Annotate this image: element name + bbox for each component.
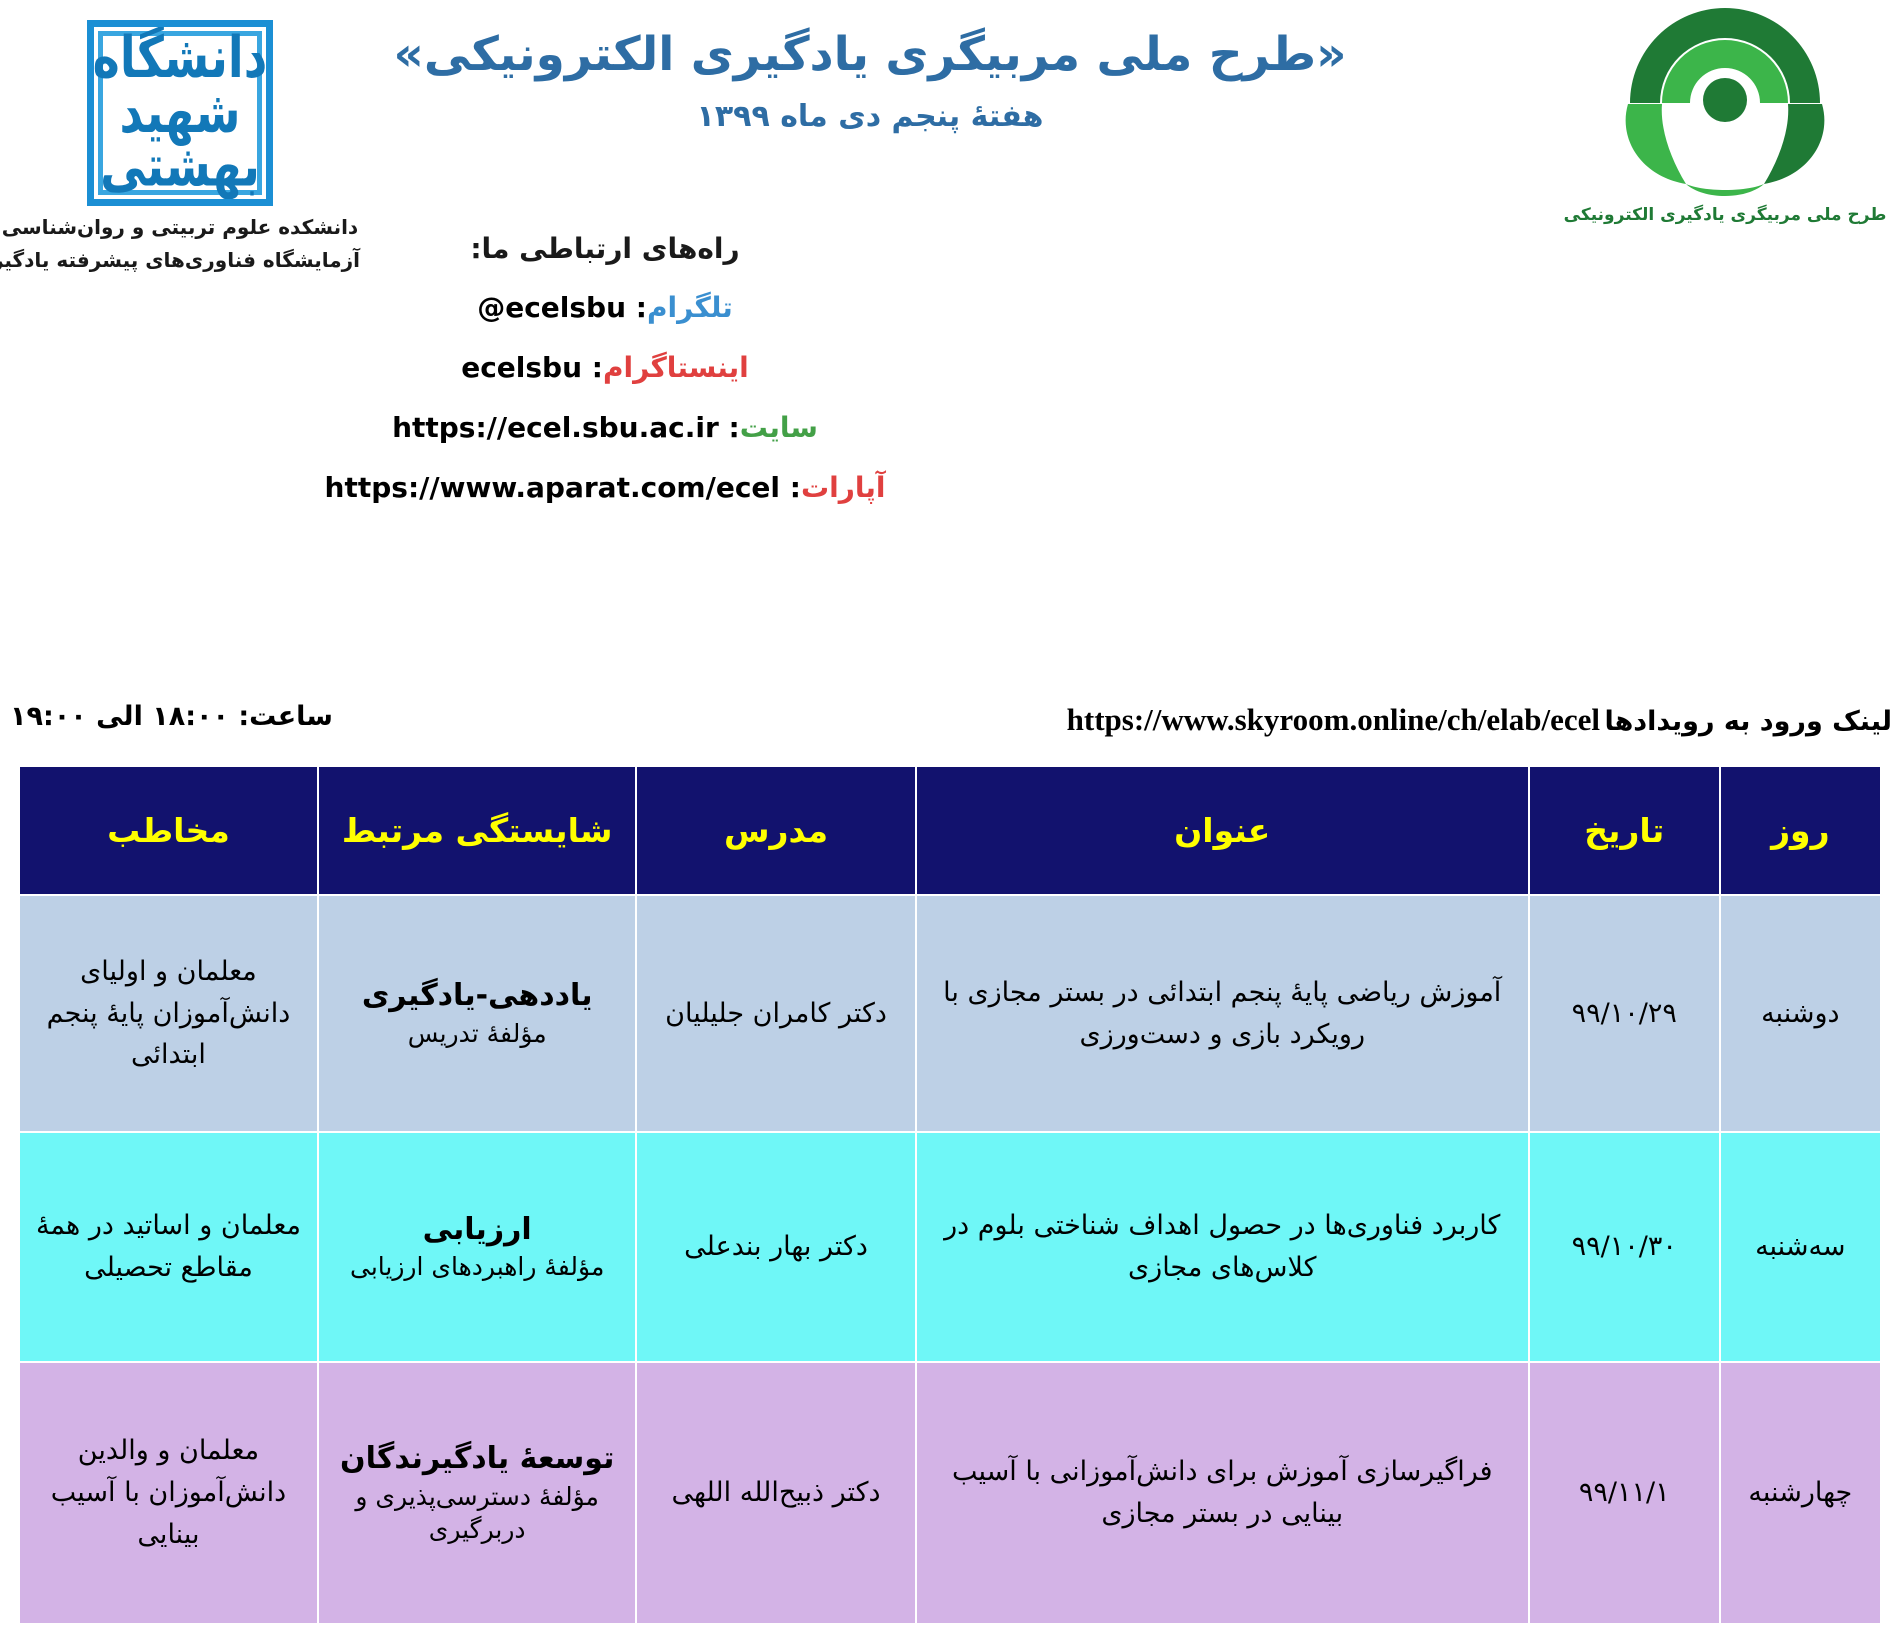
contact-row-telegram: تلگرام: @ecelsbu: [0, 291, 1210, 324]
header-audience: مخاطب: [19, 766, 318, 895]
cell-date: ۹۹/۱۱/۱: [1529, 1362, 1720, 1624]
cell-title: فراگیرسازی آموزش برای دانش‌آموزانی با آس…: [916, 1362, 1529, 1624]
poster-subtitle: هفتۀ پنجم دی ماه ۱۳۹۹: [370, 99, 1370, 134]
program-logo-caption: طرح ملی مربیگری یادگیری الکترونیکی: [1560, 205, 1890, 225]
website-label: سایت: [740, 411, 818, 444]
event-entry-label: لینک ورود به رویدادها: [1604, 706, 1892, 737]
table-row: چهارشنبه ۹۹/۱۱/۱ فراگیرسازی آموزش برای د…: [19, 1362, 1881, 1624]
title-block: «طرح ملی مربیگری یادگیری الکترونیکی» هفت…: [370, 18, 1370, 134]
event-entry-url[interactable]: https://www.skyroom.online/ch/elab/ecel: [1067, 702, 1600, 738]
cell-competency: ارزیابی مؤلفۀ راهبردهای ارزیابی: [318, 1132, 637, 1362]
cell-audience: معلمان و اولیای دانش‌آموزان پایۀ پنجم اب…: [19, 895, 318, 1132]
competency-main: ارزیابی: [327, 1210, 628, 1251]
event-time-label: ساعت: ۱۸:۰۰ الی ۱۹:۰۰: [10, 700, 333, 734]
schedule-table-wrap: روز تاریخ عنوان مدرس شایستگی مرتبط مخاطب…: [18, 765, 1882, 1625]
contact-block: راه‌های ارتباطی ما: تلگرام: @ecelsbu این…: [0, 232, 1210, 531]
header-day: روز: [1720, 766, 1881, 895]
telegram-label: تلگرام: [647, 291, 733, 324]
cell-competency: یاددهی-یادگیری مؤلفۀ تدریس: [318, 895, 637, 1132]
table-row: دوشنبه ۹۹/۱۰/۲۹ آموزش ریاضی پایۀ پنجم اب…: [19, 895, 1881, 1132]
table-header-row: روز تاریخ عنوان مدرس شایستگی مرتبط مخاطب: [19, 766, 1881, 895]
cell-teacher: دکتر بهار بندعلی: [636, 1132, 915, 1362]
contact-row-instagram: اینستاگرام: ecelsbu: [0, 351, 1210, 384]
shahid-beheshti-university-logo-icon: دانشگاه شهید بهشتی: [87, 20, 273, 206]
cell-title: کاربرد فناوری‌ها در حصول اهداف شناختی بل…: [916, 1132, 1529, 1362]
competency-sub: مؤلفۀ راهبردهای ارزیابی: [327, 1250, 628, 1284]
header-title: عنوان: [916, 766, 1529, 895]
contact-lead: راه‌های ارتباطی ما:: [0, 232, 1210, 265]
header-competency: شایستگی مرتبط: [318, 766, 637, 895]
cell-teacher: دکتر ذبیح‌الله اللهی: [636, 1362, 915, 1624]
cell-competency: توسعۀ یادگیرندگان مؤلفۀ دسترسی‌پذیری و د…: [318, 1362, 637, 1624]
header-teacher: مدرس: [636, 766, 915, 895]
schedule-table: روز تاریخ عنوان مدرس شایستگی مرتبط مخاطب…: [18, 765, 1882, 1625]
table-row: سه‌شنبه ۹۹/۱۰/۳۰ کاربرد فناوری‌ها در حصو…: [19, 1132, 1881, 1362]
cell-date: ۹۹/۱۰/۳۰: [1529, 1132, 1720, 1362]
instagram-separator: :: [582, 351, 603, 384]
telegram-separator: :: [626, 291, 647, 324]
cell-title: آموزش ریاضی پایۀ پنجم ابتدائی در بستر مج…: [916, 895, 1529, 1132]
university-logo-calligraphy: دانشگاه شهید بهشتی: [93, 31, 268, 195]
telegram-handle[interactable]: @ecelsbu: [477, 291, 626, 324]
cell-day: سه‌شنبه: [1720, 1132, 1881, 1362]
cell-day: چهارشنبه: [1720, 1362, 1881, 1624]
website-separator: :: [719, 411, 740, 444]
cell-day: دوشنبه: [1720, 895, 1881, 1132]
cell-audience: معلمان و اساتید در همۀ مقاطع تحصیلی: [19, 1132, 318, 1362]
instagram-label: اینستاگرام: [603, 351, 749, 384]
event-link-strip: لینک ورود به رویدادها https://www.skyroo…: [0, 700, 1900, 762]
ecel-program-logo-icon: [1600, 8, 1850, 203]
competency-main: یاددهی-یادگیری: [327, 976, 628, 1017]
competency-sub: مؤلفۀ دسترسی‌پذیری و دربرگیری: [327, 1480, 628, 1548]
competency-sub: مؤلفۀ تدریس: [327, 1017, 628, 1051]
cell-teacher: دکتر کامران جلیلیان: [636, 895, 915, 1132]
cell-date: ۹۹/۱۰/۲۹: [1529, 895, 1720, 1132]
aparat-url[interactable]: https://www.aparat.com/ecel: [325, 471, 780, 504]
aparat-separator: :: [780, 471, 801, 504]
contact-row-aparat: آپارات: https://www.aparat.com/ecel: [0, 471, 1210, 504]
aparat-label: آپارات: [801, 471, 885, 504]
competency-main: توسعۀ یادگیرندگان: [327, 1439, 628, 1480]
contact-row-website: سایت: https://ecel.sbu.ac.ir: [0, 411, 1210, 444]
program-identity-block: طرح ملی مربیگری یادگیری الکترونیکی: [1560, 8, 1890, 225]
poster-title: «طرح ملی مربیگری یادگیری الکترونیکی»: [370, 26, 1370, 85]
header-date: تاریخ: [1529, 766, 1720, 895]
instagram-handle[interactable]: ecelsbu: [461, 351, 582, 384]
website-url[interactable]: https://ecel.sbu.ac.ir: [392, 411, 719, 444]
cell-audience: معلمان و والدین دانش‌آموزان با آسیب بینا…: [19, 1362, 318, 1624]
